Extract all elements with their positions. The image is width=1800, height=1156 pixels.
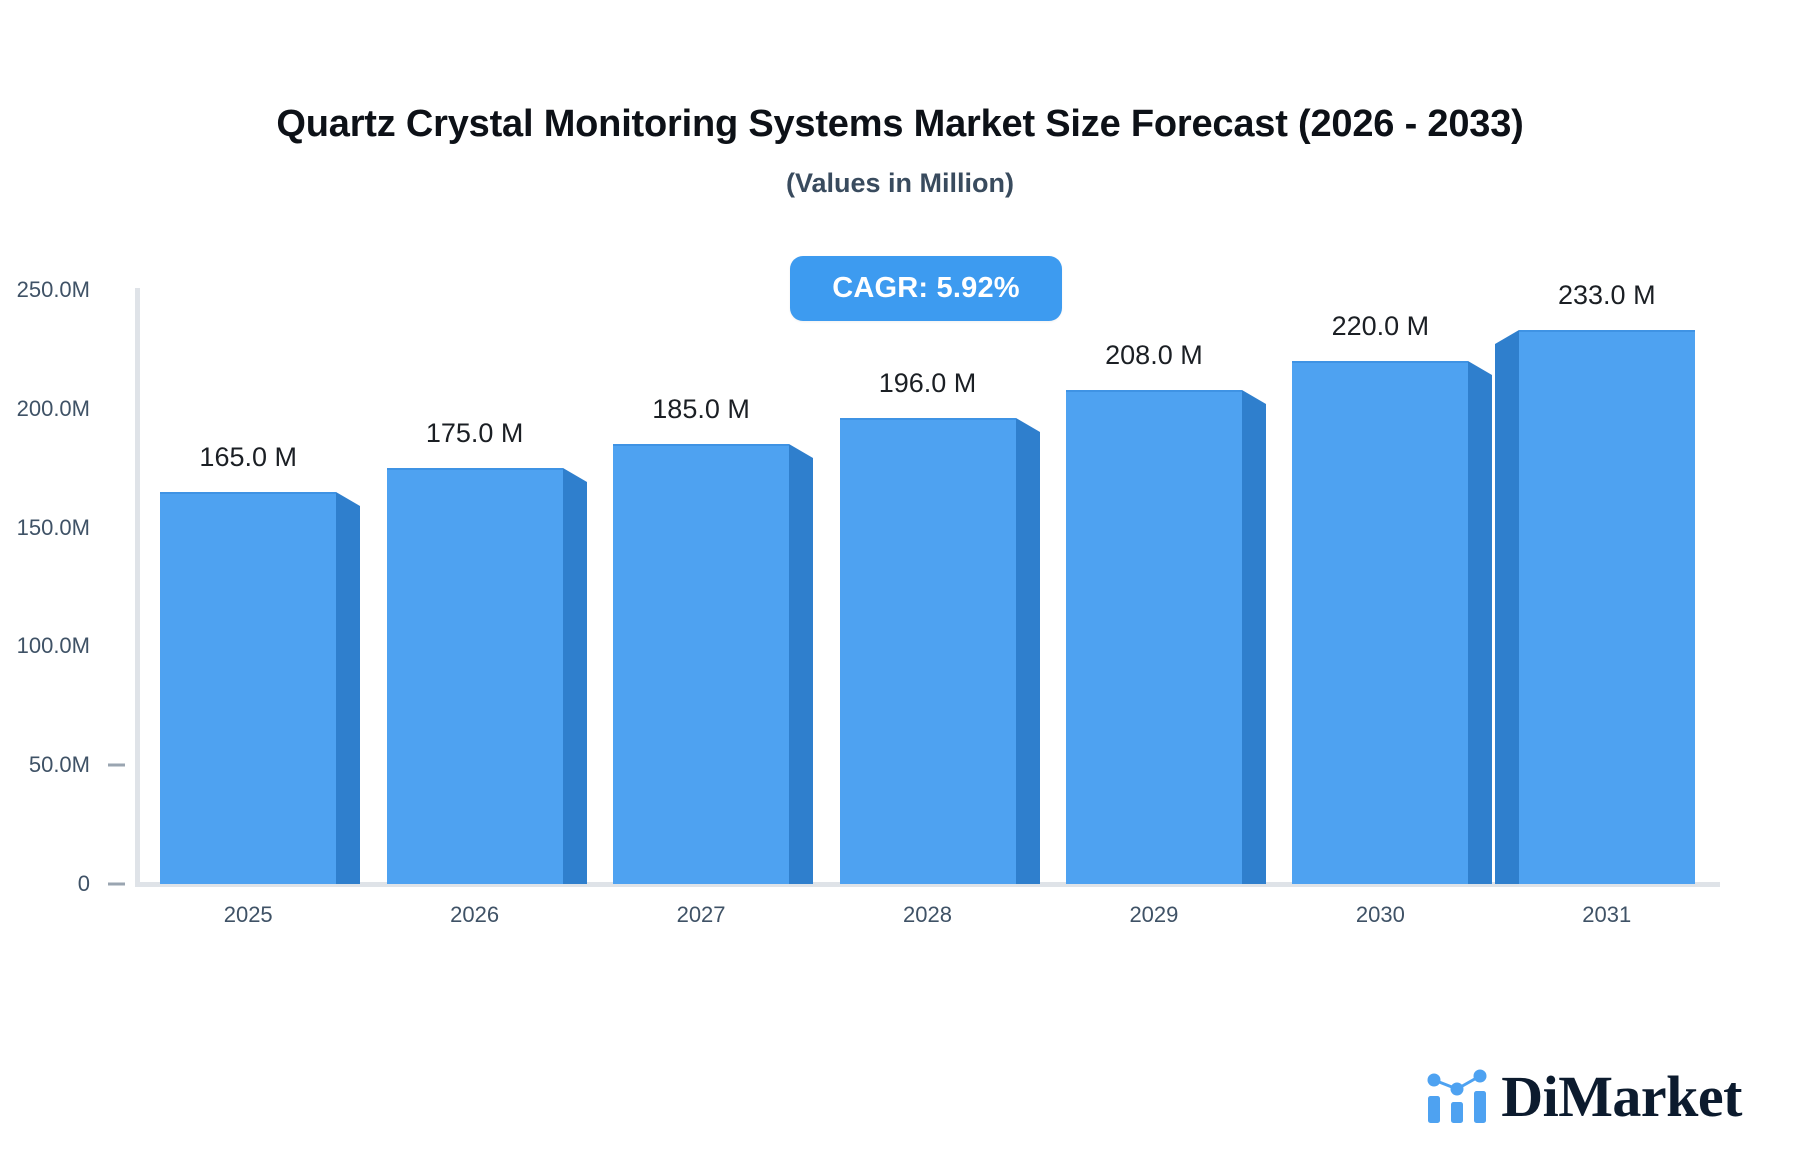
plot-area: 165.0 M175.0 M185.0 M196.0 M208.0 M220.0… — [135, 290, 1720, 884]
bar-value-label: 185.0 M — [652, 394, 750, 425]
bar-side-face — [563, 482, 587, 884]
bar-top-wedge — [1468, 361, 1492, 375]
bar-top-wedge — [1495, 330, 1519, 344]
bar-2026[interactable] — [387, 468, 563, 884]
bar-value-label: 233.0 M — [1558, 280, 1656, 311]
bar-top-wedge — [1016, 418, 1040, 432]
bar-side-face — [789, 458, 813, 884]
y-axis-tick-label: 150.0M — [0, 515, 90, 541]
chart-page: Quartz Crystal Monitoring Systems Market… — [0, 0, 1800, 1156]
bar-front-face — [840, 418, 1016, 884]
bar-top-wedge — [336, 492, 360, 506]
bar-front-face — [613, 444, 789, 884]
bar-front-face — [1519, 330, 1695, 884]
y-axis-tick-label: 0 — [0, 871, 90, 897]
bar-2025[interactable] — [160, 492, 336, 884]
bar-2030[interactable] — [1292, 361, 1468, 884]
bar-chart-logo-icon — [1426, 1069, 1488, 1125]
cagr-badge: CAGR: 5.92% — [790, 256, 1062, 321]
chart-subtitle: (Values in Million) — [0, 168, 1800, 199]
brand-logo-text: DiMarket — [1501, 1068, 1742, 1126]
bar-side-face — [336, 506, 360, 884]
bar-2027[interactable] — [613, 444, 789, 884]
y-axis-tick-label: 250.0M — [0, 277, 90, 303]
bar-side-face — [1495, 344, 1519, 884]
x-axis-tick-label: 2026 — [450, 902, 499, 928]
bar-value-label: 175.0 M — [426, 418, 524, 449]
y-axis-tick-label: 100.0M — [0, 633, 90, 659]
x-axis-tick-label: 2029 — [1129, 902, 1178, 928]
page-title: Quartz Crystal Monitoring Systems Market… — [0, 103, 1800, 146]
bar-value-label: 165.0 M — [199, 442, 297, 473]
bar-top-wedge — [563, 468, 587, 482]
bar-top-wedge — [789, 444, 813, 458]
bar-front-face — [1292, 361, 1468, 884]
bar-side-face — [1016, 432, 1040, 884]
bar-2028[interactable] — [840, 418, 1016, 884]
x-axis-tick-label: 2027 — [677, 902, 726, 928]
x-axis-tick-label: 2031 — [1582, 902, 1631, 928]
bar-front-face — [387, 468, 563, 884]
y-axis-tick-label: 200.0M — [0, 396, 90, 422]
y-axis-tick-mark — [108, 764, 125, 767]
bar-front-face — [160, 492, 336, 884]
bar-value-label: 220.0 M — [1332, 311, 1430, 342]
bar-value-label: 208.0 M — [1105, 340, 1203, 371]
y-axis-tick-label: 50.0M — [0, 752, 90, 778]
x-axis-tick-label: 2030 — [1356, 902, 1405, 928]
bar-side-face — [1468, 375, 1492, 884]
bar-2029[interactable] — [1066, 390, 1242, 884]
x-axis-tick-label: 2025 — [224, 902, 273, 928]
bar-top-wedge — [1242, 390, 1266, 404]
brand-logo: DiMarket — [1426, 1068, 1742, 1126]
bar-2031[interactable] — [1519, 330, 1695, 884]
bar-side-face — [1242, 404, 1266, 884]
y-axis-tick-mark — [108, 883, 125, 886]
bar-front-face — [1066, 390, 1242, 884]
bar-value-label: 196.0 M — [879, 368, 977, 399]
x-axis-tick-label: 2028 — [903, 902, 952, 928]
